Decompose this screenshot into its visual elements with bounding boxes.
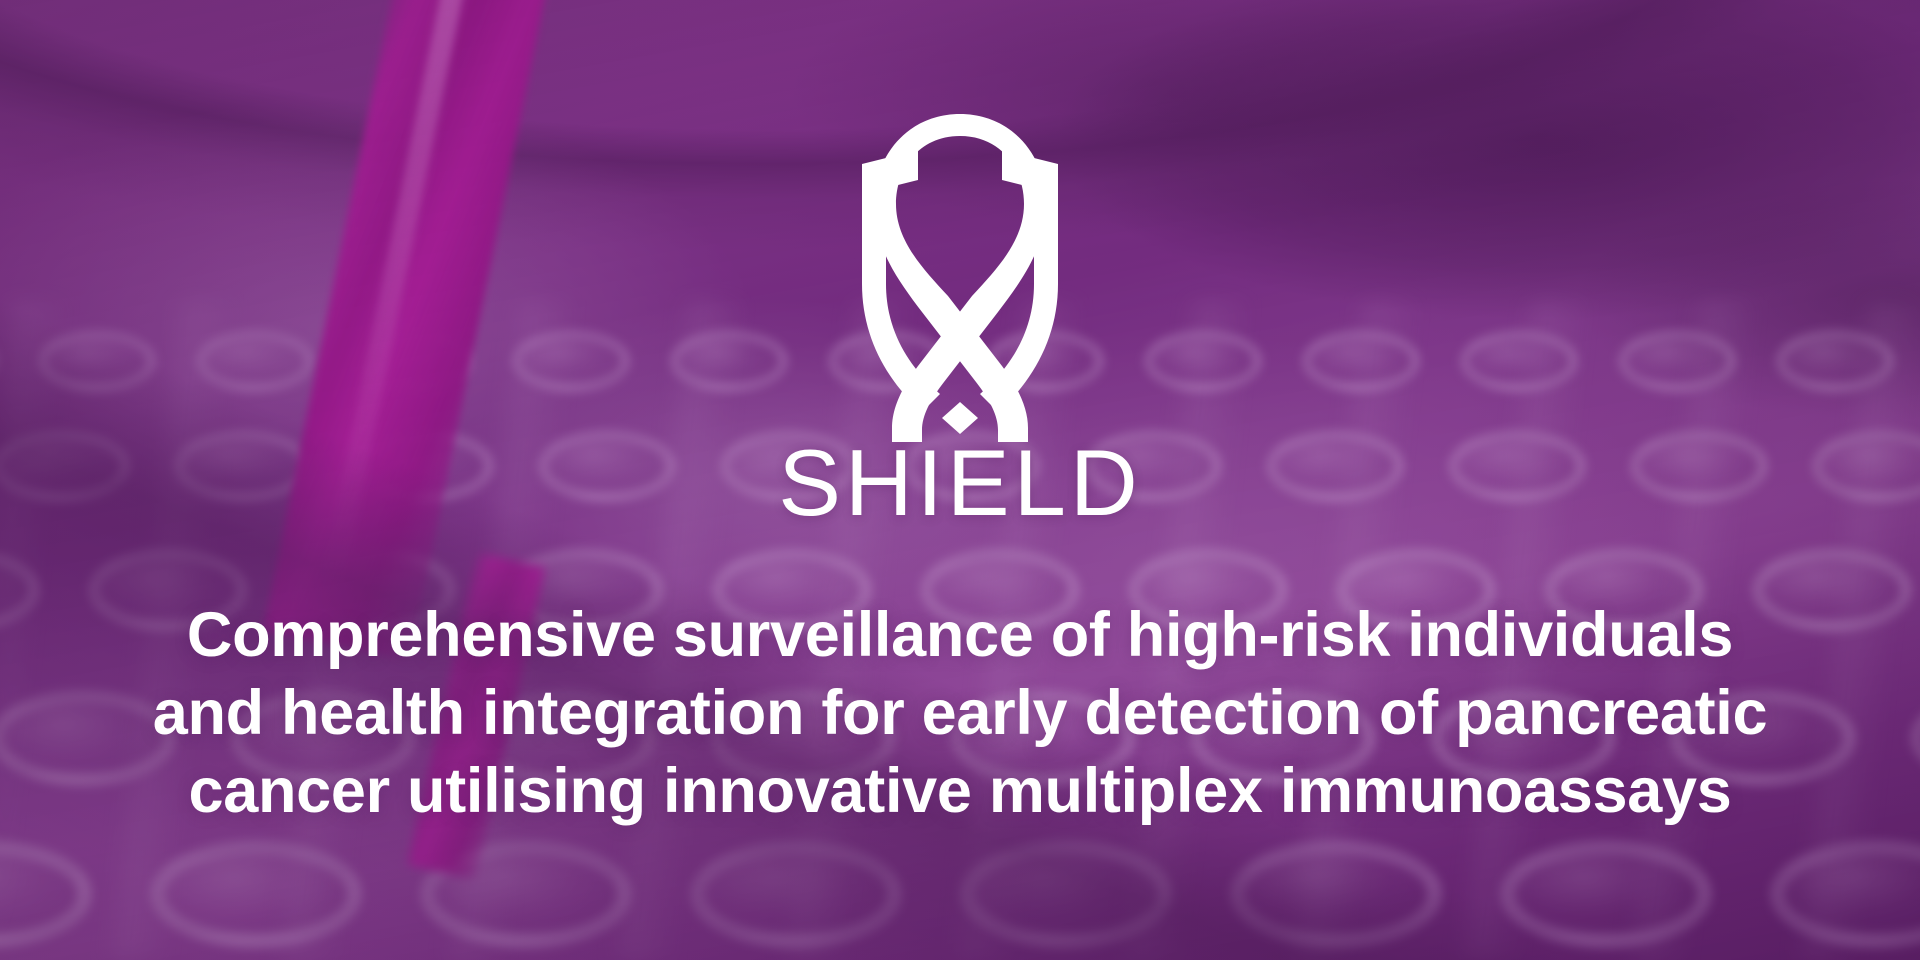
banner-tagline: Comprehensive surveillance of high-risk …: [40, 596, 1880, 830]
tagline-line-2: and health integration for early detecti…: [40, 674, 1880, 752]
banner-content: SHIELD Comprehensive surveillance of hig…: [0, 0, 1920, 960]
brand-wordmark: SHIELD: [778, 436, 1142, 530]
shield-ribbon-icon: [852, 106, 1068, 442]
shield-promo-banner: SHIELD Comprehensive surveillance of hig…: [0, 0, 1920, 960]
tagline-line-1: Comprehensive surveillance of high-risk …: [40, 596, 1880, 674]
tagline-line-3: cancer utilising innovative multiplex im…: [40, 752, 1880, 830]
